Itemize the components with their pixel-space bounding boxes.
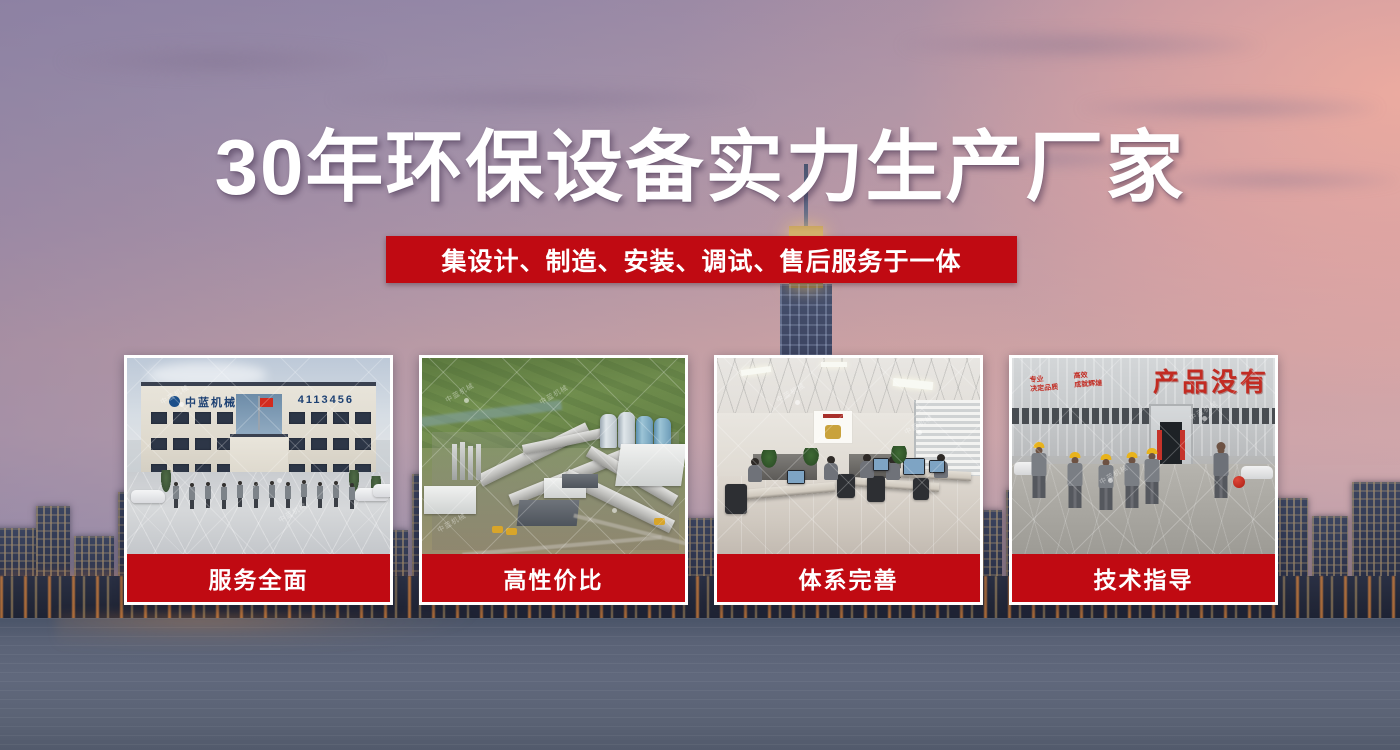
cloud-shape [330, 86, 750, 112]
company-sign-text: 中蓝机械 [185, 394, 237, 410]
potted-plant [761, 450, 777, 468]
poster-title-bar [823, 414, 843, 418]
warehouse [424, 486, 476, 514]
construction-machine [506, 528, 517, 535]
window [151, 412, 167, 424]
office-chair [913, 478, 929, 500]
window [151, 438, 167, 450]
factory-window-row [1012, 408, 1275, 424]
feature-card-list: 中蓝机械 4113456 [124, 355, 1278, 605]
staff-person [317, 482, 323, 508]
watermark-dot [179, 402, 184, 407]
feature-card[interactable]: 中蓝机械 中蓝机械 中蓝机械 高性价比 [419, 355, 688, 605]
window [217, 412, 233, 424]
company-sign-phone: 4113456 [298, 394, 354, 406]
parked-car [1241, 466, 1273, 479]
smokestack [476, 444, 481, 480]
gate-stripe [1180, 430, 1185, 460]
card-photo-headquarters: 中蓝机械 4113456 [127, 358, 390, 554]
watermark-dot [795, 400, 800, 405]
staff-person [269, 481, 275, 507]
watermark-dot [464, 398, 469, 403]
wall-poster [813, 410, 853, 444]
factory-slogan-column: 高效 成就辉煌 [1073, 371, 1102, 390]
card-caption: 高性价比 [422, 554, 685, 602]
parked-car [373, 484, 390, 497]
slogan-line: 高效 [1073, 372, 1087, 380]
cloud-shape [60, 44, 380, 78]
computer-monitor [787, 470, 805, 484]
gate-door [1160, 422, 1182, 464]
smokestack [468, 446, 473, 480]
poster-figure [825, 425, 841, 439]
window [333, 438, 349, 450]
computer-monitor [873, 458, 889, 471]
warehouse [615, 444, 685, 486]
window [355, 412, 371, 424]
window [173, 438, 189, 450]
staff-person [349, 483, 355, 509]
potted-plant [803, 448, 819, 466]
card-caption: 体系完善 [717, 554, 980, 602]
window [195, 438, 211, 450]
river-reflection [56, 614, 532, 654]
staff-person [253, 482, 259, 508]
card-caption: 技术指导 [1012, 554, 1275, 602]
feature-card[interactable]: 产品没有 专业 决定品质 高效 成就辉煌 [1009, 355, 1278, 605]
window [311, 438, 327, 450]
shed-roof [562, 474, 598, 488]
watermark-dot [612, 508, 617, 513]
worker [1122, 452, 1142, 504]
smokestack [460, 442, 465, 480]
worker [1028, 442, 1050, 502]
flag-icon [258, 396, 260, 430]
supervisor [1209, 442, 1233, 504]
office-staff [821, 456, 841, 488]
staff-person [205, 482, 211, 508]
tree [161, 470, 171, 492]
parked-car [131, 490, 165, 503]
slogan-line: 成就辉煌 [1074, 380, 1102, 389]
staff-person [333, 481, 339, 507]
potted-plant [891, 446, 907, 464]
shed-roof [517, 500, 580, 526]
computer-monitor [929, 460, 945, 473]
construction-machine [492, 526, 503, 533]
window [333, 412, 349, 424]
factory-wall-slogan: 产品没有 [1153, 362, 1269, 399]
staff-person [237, 481, 243, 507]
storage-silo [618, 412, 635, 448]
storage-silo [600, 414, 617, 448]
construction-machine [654, 518, 665, 525]
staff-person [189, 483, 195, 509]
window [195, 412, 211, 424]
window [311, 412, 327, 424]
feature-card[interactable]: 中蓝机械 中蓝机械 体系完善 [714, 355, 983, 605]
worker [1142, 448, 1162, 500]
factory-slogan-column: 专业 决定品质 [1029, 375, 1058, 394]
slogan-line: 决定品质 [1030, 384, 1058, 393]
cloud-shape [1080, 96, 1380, 120]
watermark-dot [277, 478, 282, 483]
hero-banner: 30年环保设备实力生产厂家 集设计、制造、安装、调试、售后服务于一体 中蓝机械 … [0, 0, 1400, 750]
staff-person [221, 483, 227, 509]
worker [1064, 452, 1086, 508]
red-helmet [1233, 476, 1245, 488]
window [289, 438, 305, 450]
cloud-shape [900, 30, 1260, 60]
staff-person [173, 482, 179, 508]
feature-card[interactable]: 中蓝机械 4113456 [124, 355, 393, 605]
smokestack [452, 444, 457, 480]
office-chair [725, 484, 747, 514]
window [289, 412, 305, 424]
page-title: 30年环保设备实力生产厂家 [0, 126, 1400, 209]
subtitle-banner: 集设计、制造、安装、调试、售后服务于一体 [386, 236, 1017, 283]
ceiling-light [821, 362, 847, 367]
card-caption: 服务全面 [127, 554, 390, 602]
window [173, 412, 189, 424]
card-photo-training: 产品没有 专业 决定品质 高效 成就辉煌 [1012, 358, 1275, 554]
card-photo-plant-aerial: 中蓝机械 中蓝机械 中蓝机械 [422, 358, 685, 554]
window [355, 438, 371, 450]
staff-person [285, 482, 291, 508]
card-photo-office: 中蓝机械 中蓝机械 [717, 358, 980, 554]
slogan-line: 专业 [1029, 376, 1043, 384]
